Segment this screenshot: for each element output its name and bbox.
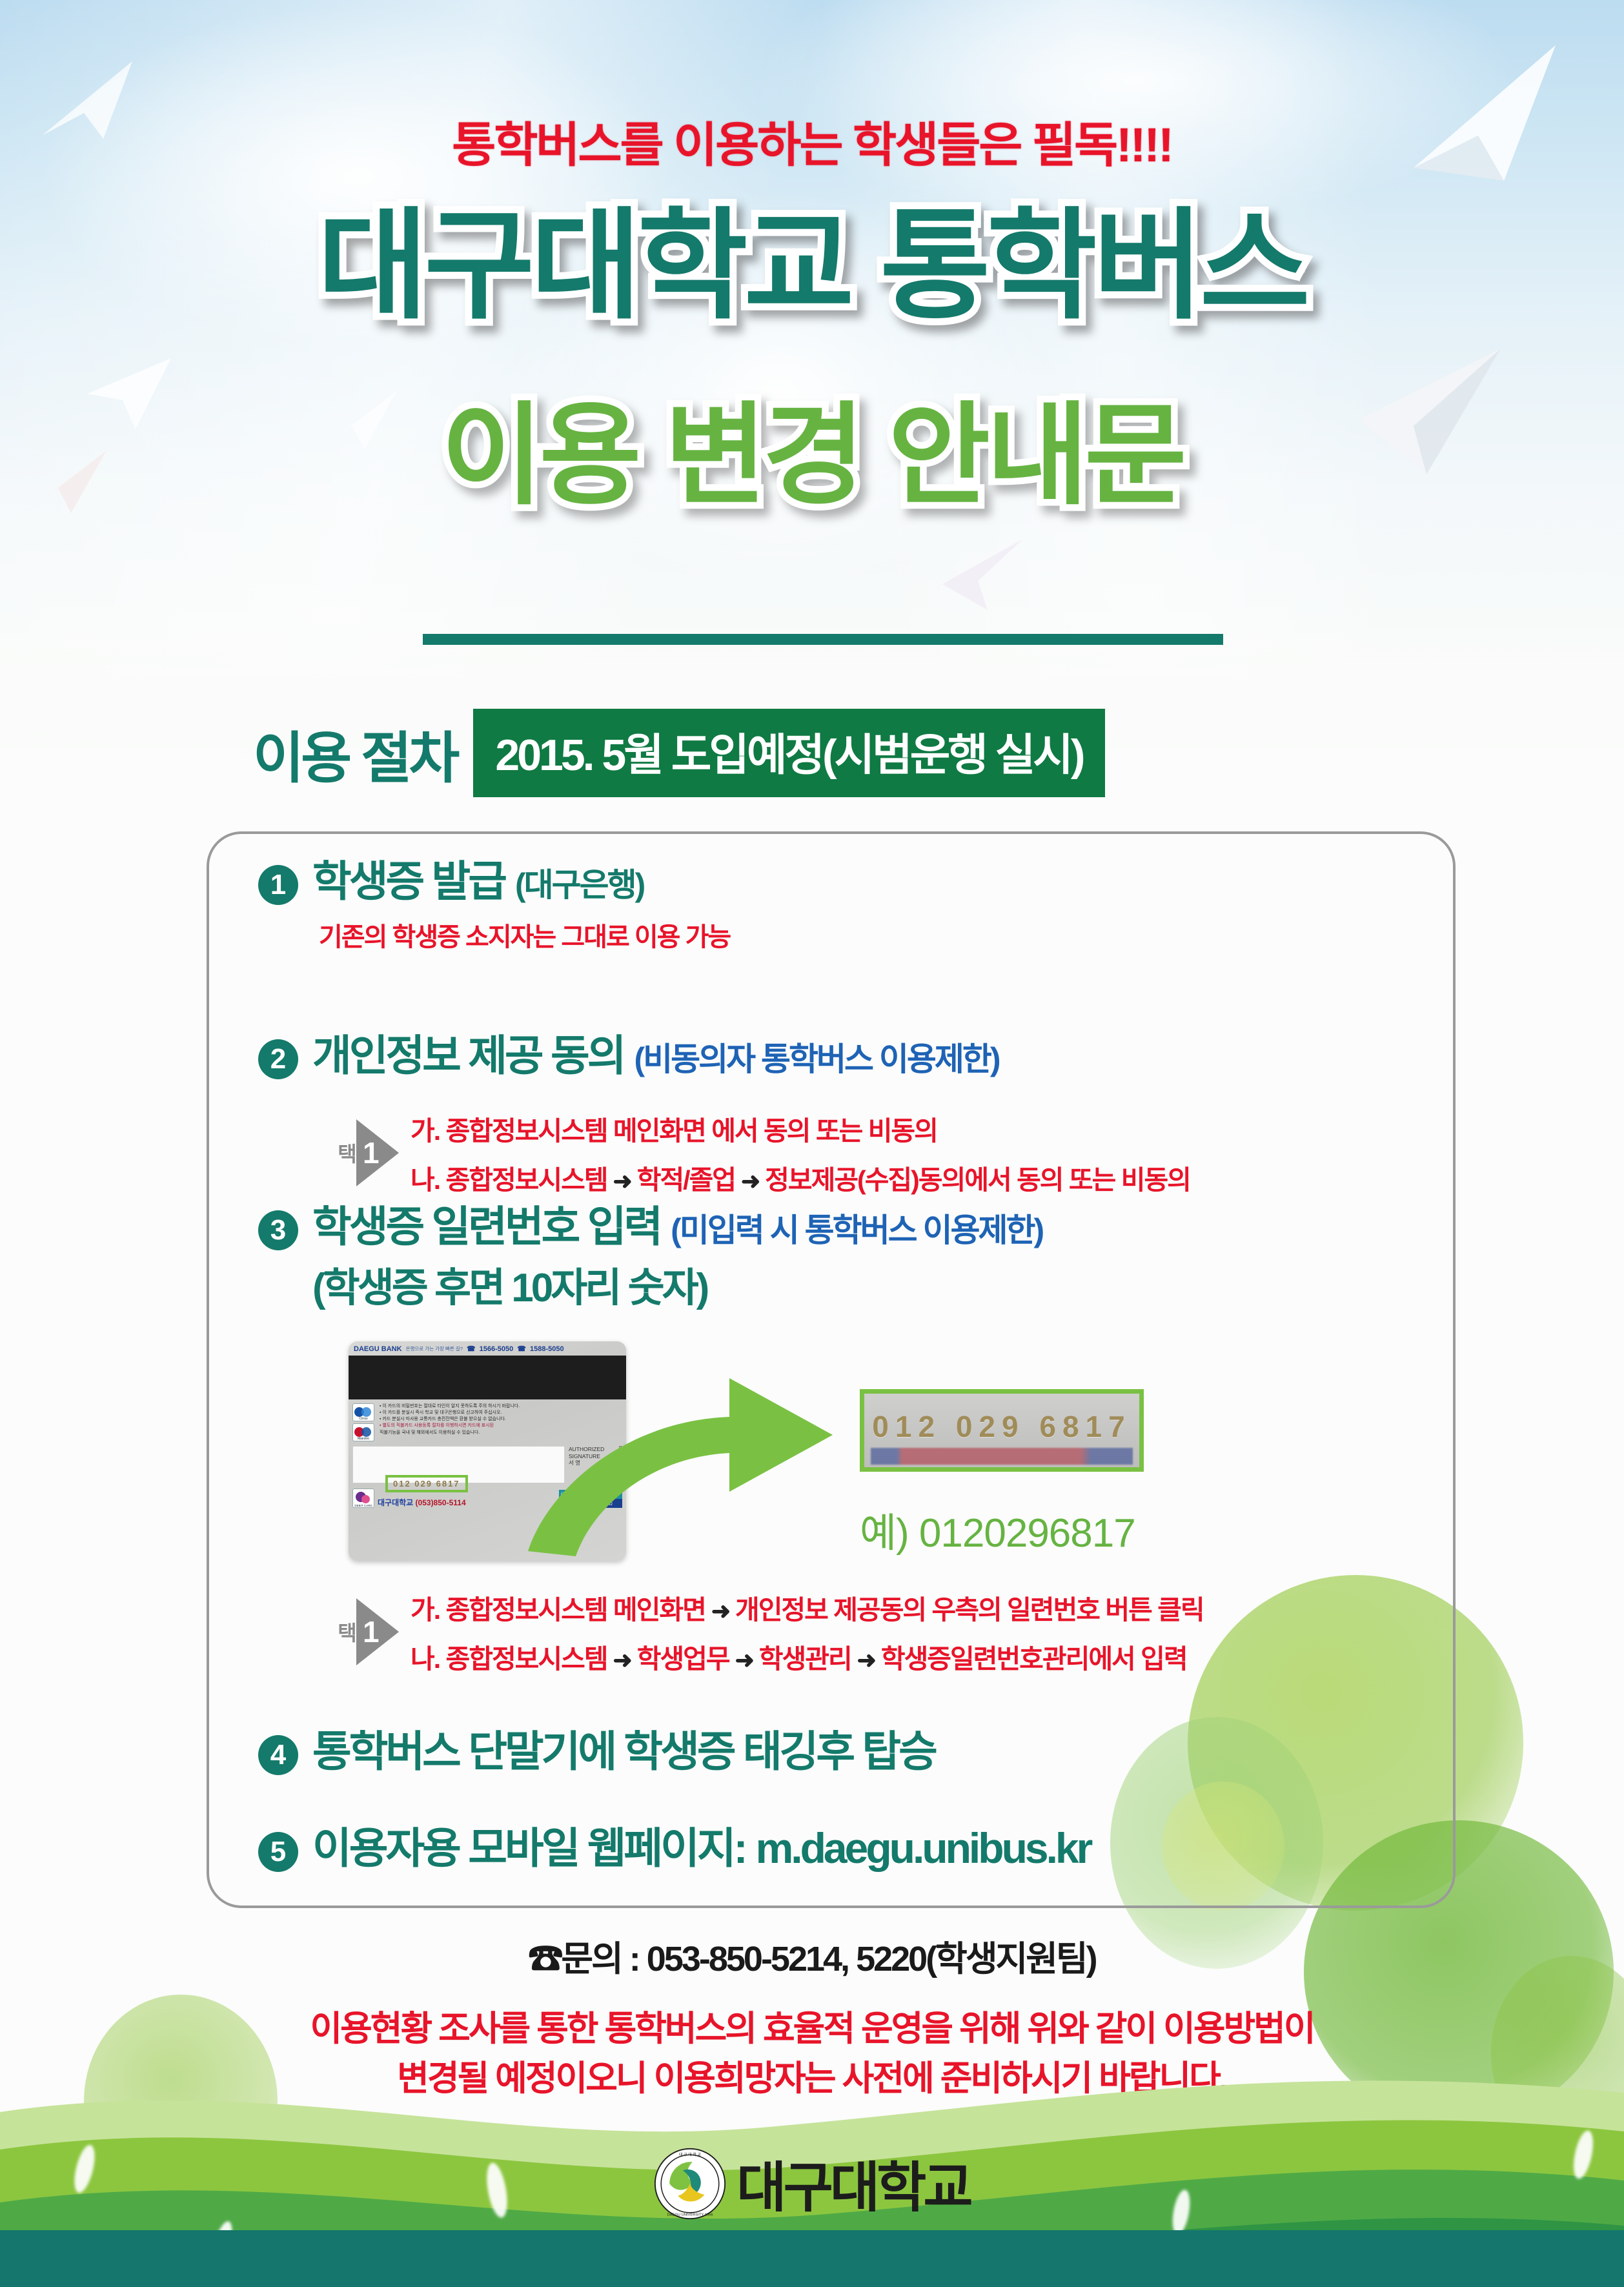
poster-title-line1: 대구대학교 통학버스 (0, 207, 1624, 327)
flow-arrow-icon: ➜ (851, 1647, 881, 1673)
flow-arrow-icon: ➜ (735, 1168, 765, 1194)
choose-label: 택 (336, 1622, 356, 1642)
step-number-badge: 1 (258, 865, 298, 905)
step-2-option-a: 가. 종합정보시스템 메인화면 에서 동의 또는 비동의 (411, 1109, 1190, 1148)
opt-a-part1: 가. 종합정보시스템 메인화면 (411, 1595, 705, 1625)
step-3-subtitle: (학생증 후면 10자리 숫자) (312, 1255, 1042, 1313)
svg-text:DAEGU UNIVERSITY 1956: DAEGU UNIVERSITY 1956 (667, 2213, 713, 2217)
card-brandmarks: Cirrus Maestro (352, 1403, 376, 1443)
sky-background (0, 0, 1624, 678)
paper-plane-icon (936, 536, 1026, 613)
step-3: 3 학생증 일련번호 입력 (미입력 시 통학버스 이용제한) (학생증 후면 … (258, 1204, 1042, 1313)
bank-phone-2: 1588-5050 (530, 1345, 564, 1353)
serial-zoom-number: 012 029 6817 (872, 1409, 1131, 1444)
opt-b-part2: 학적/졸업 (637, 1165, 735, 1195)
flow-arrow-icon: ➜ (607, 1647, 637, 1673)
debit-card-logo-icon: DEBIT CARD (352, 1489, 374, 1508)
step-number-badge: 4 (258, 1735, 298, 1775)
kicker-headline: 통학버스를 이용하는 학생들은 필독!!!! (0, 107, 1624, 176)
opt-b-part2: 학생업무 (637, 1644, 729, 1674)
svg-text:대 구 대 학 교: 대 구 대 학 교 (679, 2152, 702, 2157)
section-label: 이용 절차 (253, 713, 456, 793)
serial-example-text: 예) 0120296817 (860, 1500, 1144, 1558)
bank-phone-1: 1566-5050 (480, 1345, 514, 1353)
notice-line-1: 이용현황 조사를 통한 통학버스의 효율적 운영을 위해 위와 같이 이용방법이 (0, 2004, 1624, 2054)
opt-b-part4: 학생증일련번호관리에서 입력 (881, 1644, 1187, 1674)
university-logo-row: 대 구 대 학 교 DAEGU UNIVERSITY 1956 대구대학교 (0, 2144, 1624, 2222)
university-name: 대구대학교 (736, 2144, 969, 2222)
phone-icon: ☎ (467, 1345, 476, 1353)
opt-b-part1: 나. 종합정보시스템 (411, 1644, 607, 1674)
step-2-title: 개인정보 제공 동의 (312, 1033, 624, 1079)
step-3-title: 학생증 일련번호 입력 (312, 1204, 660, 1250)
step-number-badge: 2 (258, 1039, 298, 1079)
opt-b-part1: 나. 종합정보시스템 (411, 1165, 607, 1195)
step-2-paren: (비동의자 통학버스 이용제한) (634, 1033, 999, 1080)
step-1-paren: (대구은행) (515, 859, 644, 906)
poster-root: 통학버스를 이용하는 학생들은 필독!!!! 대구대학교 통학버스 이용 변경 … (0, 0, 1624, 2287)
serial-zoom-ghost-text (871, 1448, 1133, 1465)
bank-brand: DAEGU BANK (354, 1345, 402, 1353)
flow-arrow-icon: ➜ (607, 1168, 637, 1194)
cirrus-logo-icon: Cirrus (352, 1403, 374, 1421)
section-banner: 2015. 5월 도입예정(시범운행 실시) (473, 709, 1104, 797)
step-5: 5 이용자용 모바일 웹페이지: m.daegu.unibus.kr (258, 1825, 1090, 1872)
step-4-title: 통학버스 단말기에 학생증 태깅후 탑승 (312, 1729, 935, 1774)
flow-arrow-icon: ➜ (705, 1598, 735, 1624)
opt-b-part3: 학생관리 (759, 1644, 851, 1674)
step-3-choose-one: 택 1 가. 종합정보시스템 메인화면➜개인정보 제공동의 우측의 일련번호 버… (336, 1588, 1204, 1676)
step-2-choose-one: 택 1 가. 종합정보시스템 메인화면 에서 동의 또는 비동의 나. 종합정보… (336, 1109, 1190, 1197)
flow-arrow-icon: ➜ (729, 1647, 759, 1673)
step-1: 1 학생증 발급 (대구은행) 기존의 학생증 소지자는 그대로 이용 가능 (258, 859, 730, 953)
bank-tagline: 은행으로 가는 가장 빠른 길? (406, 1345, 463, 1352)
daegu-university-seal-icon: 대 구 대 학 교 DAEGU UNIVERSITY 1956 (654, 2148, 726, 2220)
maestro-logo-icon: Maestro (352, 1423, 374, 1441)
card-header: DAEGU BANK 은행으로 가는 가장 빠른 길? ☎1566-5050 ☎… (349, 1341, 626, 1354)
phone-icon: ☎ (517, 1345, 526, 1353)
title-divider (423, 634, 1223, 645)
step-2: 2 개인정보 제공 동의 (비동의자 통학버스 이용제한) (258, 1033, 999, 1080)
card-serial-highlight: 012 029 6817 (385, 1475, 468, 1492)
choose-arrow-icon: 1 (356, 1119, 399, 1186)
step-2-option-b: 나. 종합정보시스템➜학적/졸업➜정보제공(수집)동의에서 동의 또는 비동의 (411, 1158, 1190, 1197)
poster-title-line2: 이용 변경 안내문 (0, 400, 1624, 511)
section-header: 이용 절차 2015. 5월 도입예정(시범운행 실시) (253, 709, 1105, 797)
step-1-subnote: 기존의 학생증 소지자는 그대로 이용 가능 (319, 916, 730, 953)
step-3-option-a: 가. 종합정보시스템 메인화면➜개인정보 제공동의 우측의 일련번호 버튼 클릭 (411, 1588, 1204, 1627)
step-3-paren: (미입력 시 통학버스 이용제한) (671, 1204, 1042, 1251)
opt-a-part2: 개인정보 제공동의 우측의 일련번호 버튼 클릭 (735, 1595, 1204, 1625)
step-5-title: 이용자용 모바일 웹페이지: (312, 1825, 746, 1871)
step-3-option-b: 나. 종합정보시스템➜학생업무➜학생관리➜학생증일련번호관리에서 입력 (411, 1637, 1204, 1676)
opt-b-part3: 정보제공(수집)동의에서 동의 또는 비동의 (765, 1165, 1190, 1195)
green-curved-arrow-icon (516, 1365, 878, 1559)
contact-line: ☎문의 : 053-850-5214, 5220(학생지원팀) (0, 1930, 1624, 1981)
choose-label: 택 (336, 1143, 356, 1163)
serial-zoom-box: 012 029 6817 (860, 1389, 1144, 1472)
choose-arrow-icon: 1 (356, 1598, 399, 1665)
step-1-title: 학생증 발급 (312, 859, 505, 904)
step-number-badge: 5 (258, 1832, 298, 1872)
step-4: 4 통학버스 단말기에 학생증 태깅후 탑승 (258, 1729, 935, 1775)
serial-zoom-callout: 012 029 6817 예) 0120296817 (860, 1389, 1144, 1558)
step-number-badge: 3 (258, 1210, 298, 1250)
mobile-web-url[interactable]: m.daegu.unibus.kr (756, 1825, 1091, 1871)
bottom-bar (0, 2230, 1624, 2287)
